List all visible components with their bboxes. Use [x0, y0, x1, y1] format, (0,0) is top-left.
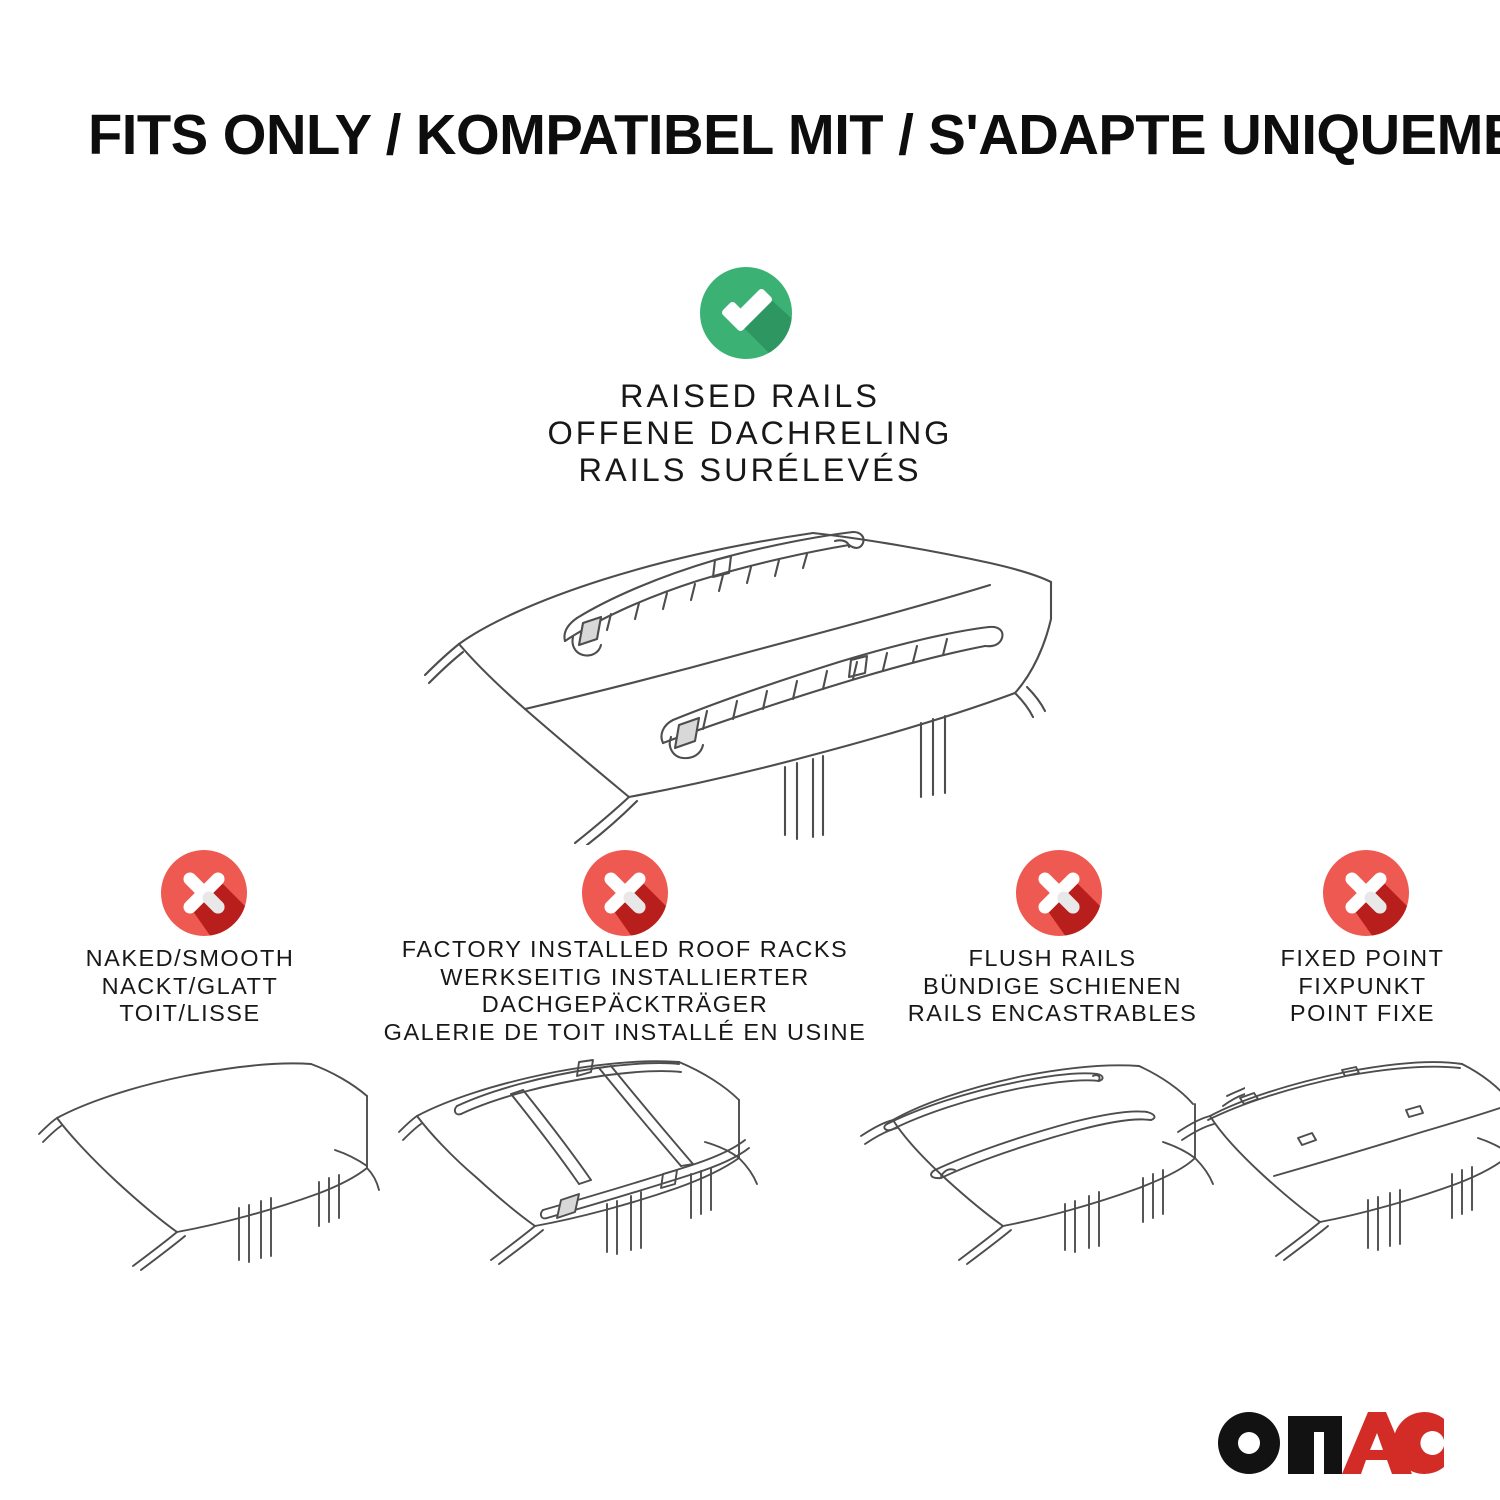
- x-circle-icon: [161, 850, 247, 936]
- caption-line-de: BÜNDIGE SCHIENEN: [875, 973, 1230, 1001]
- approved-line-fr: RAILS SURÉLEVÉS: [250, 452, 1250, 489]
- car-roof-factory-racks-illustration: [395, 1058, 800, 1273]
- car-roof-naked-smooth-illustration: [35, 1058, 380, 1273]
- caption-line-de-1: WERKSEITIG INSTALLIERTER: [375, 964, 875, 992]
- approved-line-de: OFFENE DACHRELING: [250, 415, 1250, 452]
- omac-logo: [1216, 1412, 1444, 1474]
- approved-line-en: RAISED RAILS: [250, 378, 1250, 415]
- omac-letter-o: [1218, 1412, 1280, 1474]
- caption-line-fr: TOIT/LISSE: [0, 1000, 380, 1028]
- fitment-infographic: FITS ONLY / KOMPATIBEL MIT / S'ADAPTE UN…: [0, 0, 1500, 1500]
- caption-line-fr: POINT FIXE: [1225, 1000, 1500, 1028]
- caption-line-de: FIXPUNKT: [1225, 973, 1500, 1001]
- caption-line-en: FIXED POINT: [1225, 945, 1500, 973]
- caption-fixed-point: FIXED POINT FIXPUNKT POINT FIXE: [1225, 945, 1500, 1028]
- check-circle-icon: [700, 267, 792, 359]
- caption-line-fr: GALERIE DE TOIT INSTALLÉ EN USINE: [375, 1019, 875, 1047]
- caption-line-en: FACTORY INSTALLED ROOF RACKS: [375, 936, 875, 964]
- caption-line-fr: RAILS ENCASTRABLES: [875, 1000, 1230, 1028]
- approved-caption: RAISED RAILS OFFENE DACHRELING RAILS SUR…: [250, 378, 1250, 489]
- caption-flush-rails: FLUSH RAILS BÜNDIGE SCHIENEN RAILS ENCAS…: [875, 945, 1230, 1028]
- x-circle-icon: [1323, 850, 1409, 936]
- caption-factory-racks: FACTORY INSTALLED ROOF RACKS WERKSEITIG …: [375, 936, 875, 1046]
- x-circle-icon: [1016, 850, 1102, 936]
- caption-line-en: FLUSH RAILS: [875, 945, 1230, 973]
- caption-line-de: NACKT/GLATT: [0, 973, 380, 1001]
- car-roof-fixed-point-illustration: [1170, 1058, 1500, 1273]
- caption-line-en: NAKED/SMOOTH: [0, 945, 380, 973]
- page-title: FITS ONLY / KOMPATIBEL MIT / S'ADAPTE UN…: [88, 106, 1398, 166]
- caption-line-de-2: DACHGEPÄCKTRÄGER: [375, 991, 875, 1019]
- x-circle-icon: [582, 850, 668, 936]
- caption-naked-smooth: NAKED/SMOOTH NACKT/GLATT TOIT/LISSE: [0, 945, 380, 1028]
- car-roof-raised-rails-illustration: [415, 505, 1095, 845]
